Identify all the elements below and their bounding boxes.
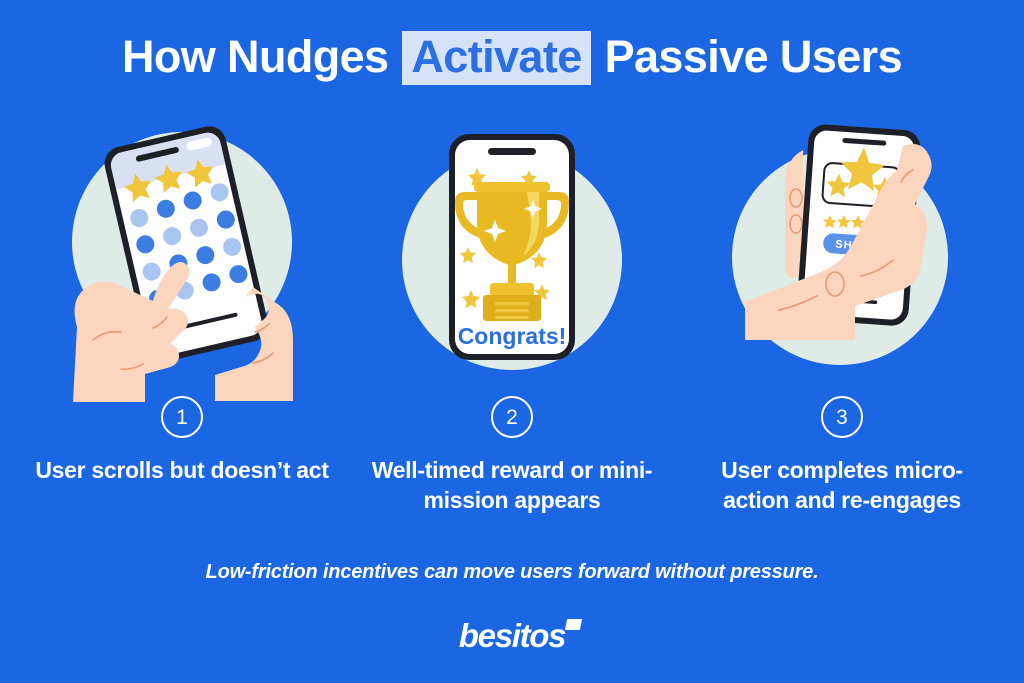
brand-logo: besitos bbox=[0, 617, 1024, 655]
illustration-trophy-phone: Congrats! bbox=[377, 112, 647, 382]
title-part-two: Passive Users bbox=[605, 31, 902, 82]
steps-row: 1 User scrolls but doesn’t act bbox=[0, 112, 1024, 516]
step-caption-2: Well-timed reward or mini-mission appear… bbox=[362, 455, 662, 516]
congrats-message: Congrats! bbox=[458, 323, 567, 349]
phone-device: Congrats! bbox=[449, 134, 575, 360]
step-column-1: 1 User scrolls but doesn’t act bbox=[17, 112, 347, 516]
step-caption-3: User completes micro-action and re-engag… bbox=[692, 455, 992, 516]
step-number-1: 1 bbox=[161, 396, 203, 438]
step-number-3: 3 bbox=[821, 396, 863, 438]
step-column-2: Congrats! 2 Well-timed reward or mini-mi… bbox=[347, 112, 677, 516]
logo-mark-icon bbox=[565, 619, 582, 630]
illustration-scrolling-phone bbox=[47, 112, 317, 382]
step-caption-1: User scrolls but doesn’t act bbox=[35, 455, 328, 485]
footer-tagline: Low-friction incentives can move users f… bbox=[0, 561, 1024, 584]
title-highlight-activate: Activate bbox=[402, 31, 590, 85]
title-heading: How Nudges Activate Passive Users bbox=[122, 31, 902, 85]
page-title: How Nudges Activate Passive Users bbox=[0, 31, 1024, 85]
step-column-3: SHARE 3 User completes micro-action bbox=[677, 112, 1007, 516]
step-number-2: 2 bbox=[491, 396, 533, 438]
illustration-share-phone: SHARE bbox=[707, 112, 977, 382]
logo-text: besitos bbox=[459, 617, 565, 654]
title-part-one: How Nudges bbox=[122, 31, 389, 82]
